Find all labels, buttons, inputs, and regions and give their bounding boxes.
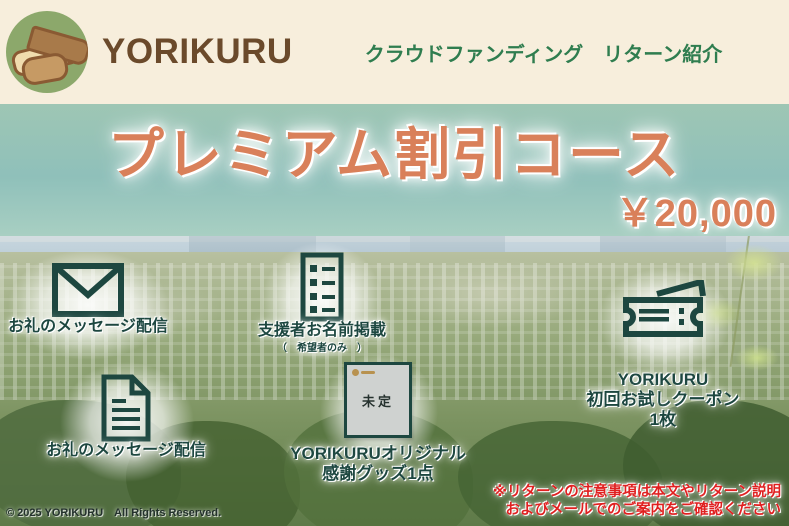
goods-card-icon: 未定 [344,362,412,438]
perk-sublabel: （ 希望者のみ ） [244,343,400,355]
course-title: プレミアム割引コース [0,110,789,191]
goods-card-text: 未定 [362,391,394,410]
return-reward-card: YORIKURU クラウドファンディング リターン紹介 プレミアム割引コース ￥… [0,0,789,526]
header-subtitle: クラウドファンディング リターン紹介 [365,38,723,67]
document-icon [38,374,214,442]
perk-label-line1: YORIKURUオリジナル [268,444,488,464]
brand-name: YORIKURU [102,32,293,72]
ticket-icon [548,280,778,352]
perk-label: お礼のメッセージ配信 [0,318,176,337]
perk-label-line3: 1枚 [548,410,778,430]
course-price: ￥20,000 [616,182,777,237]
perk-thankyou-document: お礼のメッセージ配信 [38,374,214,461]
handshake-logo-icon [6,11,88,93]
perk-message-delivery: お礼のメッセージ配信 [0,262,176,337]
perk-label: 支援者お名前掲載 [244,322,400,341]
mini-logo-icon [352,369,375,376]
header-bar: YORIKURU クラウドファンディング リターン紹介 [0,0,789,104]
perk-supporter-name-listing: 支援者お名前掲載 （ 希望者のみ ） [244,252,400,355]
perk-trial-coupon: YORIKURU 初回お試しクーポン 1枚 [548,280,778,430]
notice-line-2: およびメールでのご案内をご確認ください [493,501,781,520]
checklist-icon [244,252,400,322]
perk-label-line2: 初回お試しクーポン [548,390,778,410]
envelope-icon [0,262,176,318]
perk-label-line2: 感謝グッズ1点 [268,464,488,484]
copyright-text: © 2025 YORIKURU All Rights Reserved. [6,504,221,520]
perk-label-line1: YORIKURU [548,370,778,390]
course-title-banner: プレミアム割引コース ￥20,000 [0,104,789,236]
perk-original-goods: 未定 YORIKURUオリジナル 感謝グッズ1点 [268,362,488,484]
return-notice: ※リターンの注意事項は本文やリターン説明 およびメールでのご案内をご確認ください [493,483,781,520]
perk-label: お礼のメッセージ配信 [38,442,214,461]
notice-line-1: ※リターンの注意事項は本文やリターン説明 [493,483,781,502]
